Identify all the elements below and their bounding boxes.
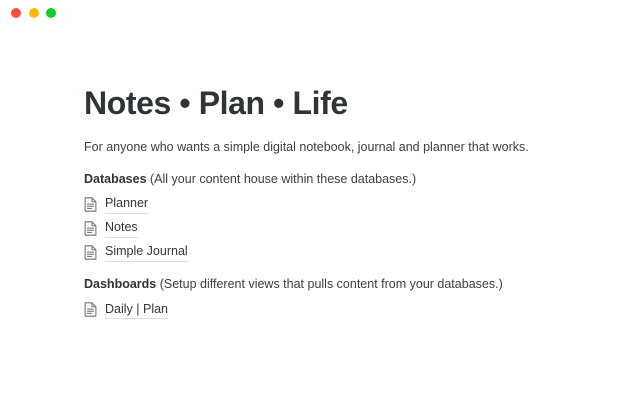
title-bar [0, 0, 640, 26]
section-databases: Databases (All your content house within… [84, 170, 600, 261]
section-spacer [84, 268, 600, 275]
list-item-label[interactable]: Notes [105, 219, 138, 237]
document-icon [84, 302, 97, 317]
section-dashboards: Dashboards (Setup different views that p… [84, 275, 600, 318]
section-heading-note: (All your content house within these dat… [147, 172, 417, 186]
close-window-button[interactable] [11, 8, 21, 18]
list-item[interactable]: Planner [84, 196, 600, 213]
page-title: Notes • Plan • Life [84, 86, 600, 122]
list-item[interactable]: Notes [84, 220, 600, 237]
section-heading: Dashboards (Setup different views that p… [84, 275, 600, 293]
document-icon [84, 197, 97, 212]
section-heading-label: Dashboards [84, 277, 156, 291]
page-intro: For anyone who wants a simple digital no… [84, 138, 600, 156]
list-item-label[interactable]: Planner [105, 195, 148, 213]
section-heading-label: Databases [84, 172, 147, 186]
document-icon [84, 221, 97, 236]
list-item[interactable]: Daily | Plan [84, 301, 600, 318]
maximize-window-button[interactable] [46, 8, 56, 18]
list-item-label[interactable]: Simple Journal [105, 243, 188, 261]
list-item-label[interactable]: Daily | Plan [105, 301, 168, 319]
app-window: Notes • Plan • Life For anyone who wants… [0, 0, 640, 400]
document-icon [84, 245, 97, 260]
section-heading: Databases (All your content house within… [84, 170, 600, 188]
section-heading-note: (Setup different views that pulls conten… [156, 277, 502, 291]
traffic-light-group [11, 8, 56, 18]
page-content: Notes • Plan • Life For anyone who wants… [0, 26, 640, 318]
list-item[interactable]: Simple Journal [84, 244, 600, 261]
minimize-window-button[interactable] [29, 8, 39, 18]
